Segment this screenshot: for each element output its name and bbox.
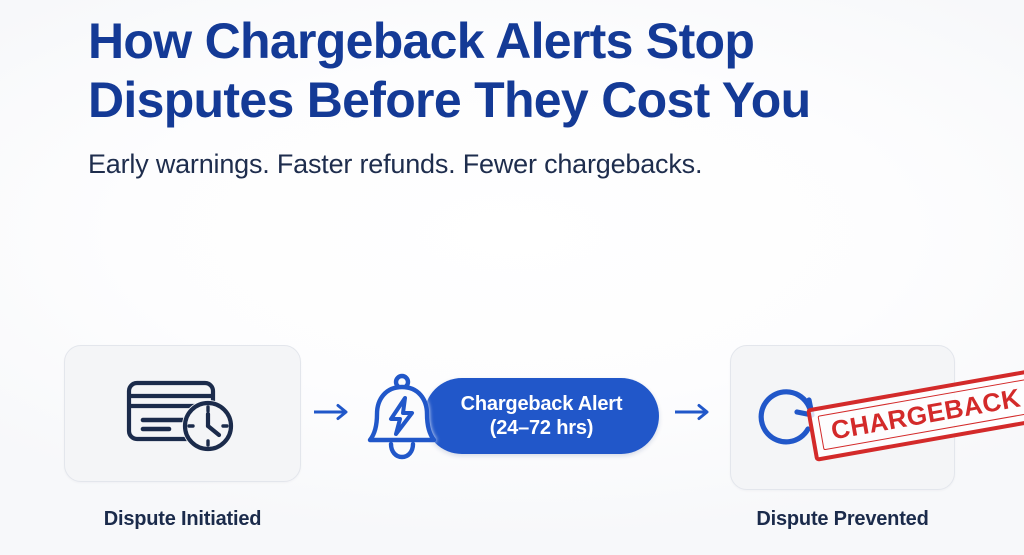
headline-line-2: Disputes Before They Cost You [88,72,810,128]
chargeback-alert-title: Chargeback Alert [461,393,623,416]
chargeback-stamp-border: CHARGEBACK [817,379,1024,451]
page-subtitle: Early warnings. Faster refunds. Fewer ch… [88,149,968,180]
chargeback-alert-pill: Chargeback Alert (24–72 hrs) [424,378,659,454]
chargeback-flow-diagram: Dispute Initiatied Chargeback Alert (24–… [0,330,1024,555]
flow-step-dispute-prevented: CHARGEBACK Dispute Prevented [730,345,955,490]
dispute-initiated-label: Dispute Initiatied [104,508,262,531]
credit-card-clock-icon [65,346,302,483]
chargeback-stamp-text: CHARGEBACK [829,385,1022,444]
arrow-right-icon [674,402,714,427]
page-title: How Chargeback Alerts Stop Disputes Befo… [88,12,968,129]
dispute-prevented-card: CHARGEBACK [730,345,955,490]
chargeback-stamp: CHARGEBACK [806,368,1024,462]
header: How Chargeback Alerts Stop Disputes Befo… [88,12,968,180]
arrow-right-icon [313,402,353,427]
dispute-initiated-card [64,345,301,482]
headline-line-1: How Chargeback Alerts Stop [88,13,754,69]
flow-step-dispute-initiated: Dispute Initiatied [64,345,301,482]
dispute-prevented-label: Dispute Prevented [756,508,928,531]
chargeback-alert-timeframe: (24–72 hrs) [490,416,593,440]
bell-lightning-icon [362,372,442,469]
